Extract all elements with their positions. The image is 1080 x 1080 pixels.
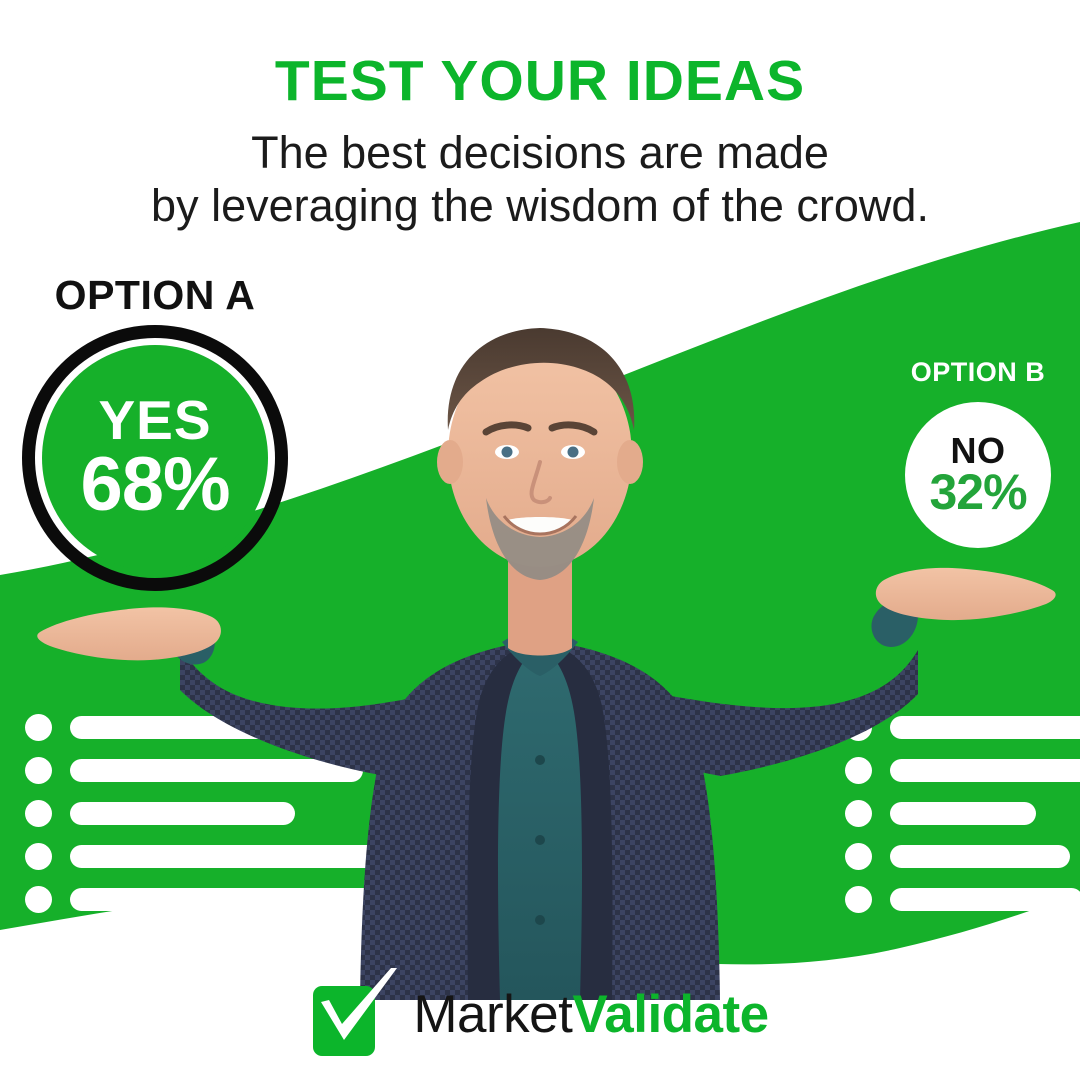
brand-name-part2: Validate	[572, 985, 768, 1044]
bullet-bar	[70, 845, 401, 868]
bullet-dot-icon	[845, 800, 872, 827]
option-a-answer: YES	[98, 393, 211, 448]
bullet-bar	[890, 802, 1036, 825]
option-b-disc: NO 32%	[905, 402, 1051, 548]
bullet-row	[25, 841, 415, 871]
subtitle-line-2: by leveraging the wisdom of the crowd.	[0, 179, 1080, 232]
bullet-bar	[70, 716, 330, 739]
option-a-disc: YES 68%	[42, 345, 268, 571]
brand-logo[interactable]: MarketValidate	[0, 968, 1080, 1060]
bullet-row	[845, 755, 1080, 785]
bullet-dot-icon	[845, 843, 872, 870]
bullet-row	[845, 712, 1080, 742]
bullet-bar	[70, 802, 295, 825]
bullet-bar	[890, 759, 1080, 782]
page-subtitle: The best decisions are made by leveragin…	[0, 126, 1080, 232]
bullet-dot-icon	[25, 714, 52, 741]
bullet-row	[845, 841, 1080, 871]
bullet-bar	[890, 845, 1070, 868]
bullet-row	[25, 798, 415, 828]
bullet-list-right	[845, 712, 1080, 927]
bullet-row	[25, 755, 415, 785]
page-title: TEST YOUR IDEAS	[0, 52, 1080, 112]
bullet-dot-icon	[25, 843, 52, 870]
brand-name-part1: Market	[413, 985, 572, 1044]
bullet-dot-icon	[845, 757, 872, 784]
checkmark-logo-icon	[311, 968, 397, 1060]
subtitle-line-1: The best decisions are made	[0, 126, 1080, 179]
bullet-bar	[890, 888, 1080, 911]
option-b-badge[interactable]: OPTION B NO 32%	[878, 357, 1078, 557]
bullet-bar	[890, 716, 1080, 739]
bullet-dot-icon	[25, 800, 52, 827]
bullet-row	[25, 884, 415, 914]
bullet-dot-icon	[845, 886, 872, 913]
poster-canvas: TEST YOUR IDEAS The best decisions are m…	[0, 0, 1080, 1080]
bullet-row	[845, 884, 1080, 914]
bullet-bar	[70, 888, 415, 911]
bullet-row	[25, 712, 415, 742]
bullet-dot-icon	[845, 714, 872, 741]
option-b-percent: 32%	[929, 467, 1026, 518]
bullet-row	[845, 798, 1080, 828]
option-a-label: OPTION A	[0, 272, 310, 319]
bullet-dot-icon	[25, 886, 52, 913]
option-a-percent: 68%	[80, 446, 229, 524]
bullet-list-left	[25, 712, 415, 927]
brand-logo-text: MarketValidate	[413, 988, 768, 1041]
bullet-bar	[70, 759, 363, 782]
option-a-badge[interactable]: OPTION A YES 68%	[0, 272, 310, 592]
bullet-dot-icon	[25, 757, 52, 784]
option-b-label: OPTION B	[878, 357, 1078, 388]
